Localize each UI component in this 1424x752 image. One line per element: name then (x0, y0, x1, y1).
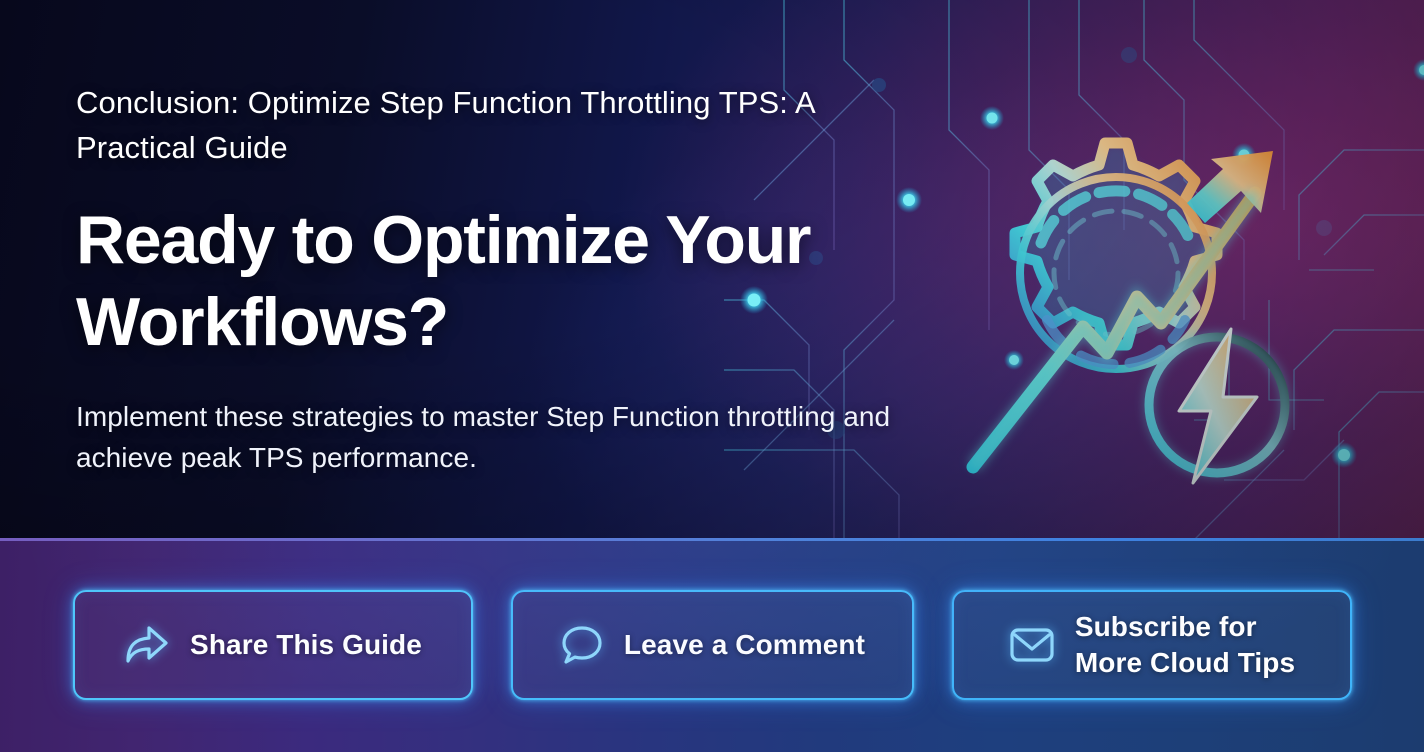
cta-label: Share This Guide (190, 627, 422, 663)
cta-button-row: Share This Guide Leave a Comment Subscri… (73, 590, 1352, 700)
share-this-guide-button[interactable]: Share This Guide (73, 590, 473, 700)
hero-illustration (955, 115, 1335, 505)
leave-a-comment-button[interactable]: Leave a Comment (511, 590, 914, 700)
hero-copy: Conclusion: Optimize Step Function Throt… (76, 0, 956, 540)
cta-banner: Conclusion: Optimize Step Function Throt… (0, 0, 1424, 752)
action-bar: Share This Guide Leave a Comment Subscri… (0, 538, 1424, 752)
cta-label: Leave a Comment (624, 627, 865, 663)
share-arrow-icon (124, 624, 170, 666)
eyebrow-text: Conclusion: Optimize Step Function Throt… (76, 80, 916, 170)
page-title: Ready to Optimize Your Workflows? (76, 199, 856, 363)
subtitle-text: Implement these strategies to master Ste… (76, 396, 946, 478)
hero-section: Conclusion: Optimize Step Function Throt… (0, 0, 1424, 540)
cta-label: Subscribe for More Cloud Tips (1075, 609, 1295, 681)
subscribe-button[interactable]: Subscribe for More Cloud Tips (952, 590, 1352, 700)
comment-bubble-icon (560, 624, 604, 666)
envelope-icon (1009, 626, 1055, 664)
